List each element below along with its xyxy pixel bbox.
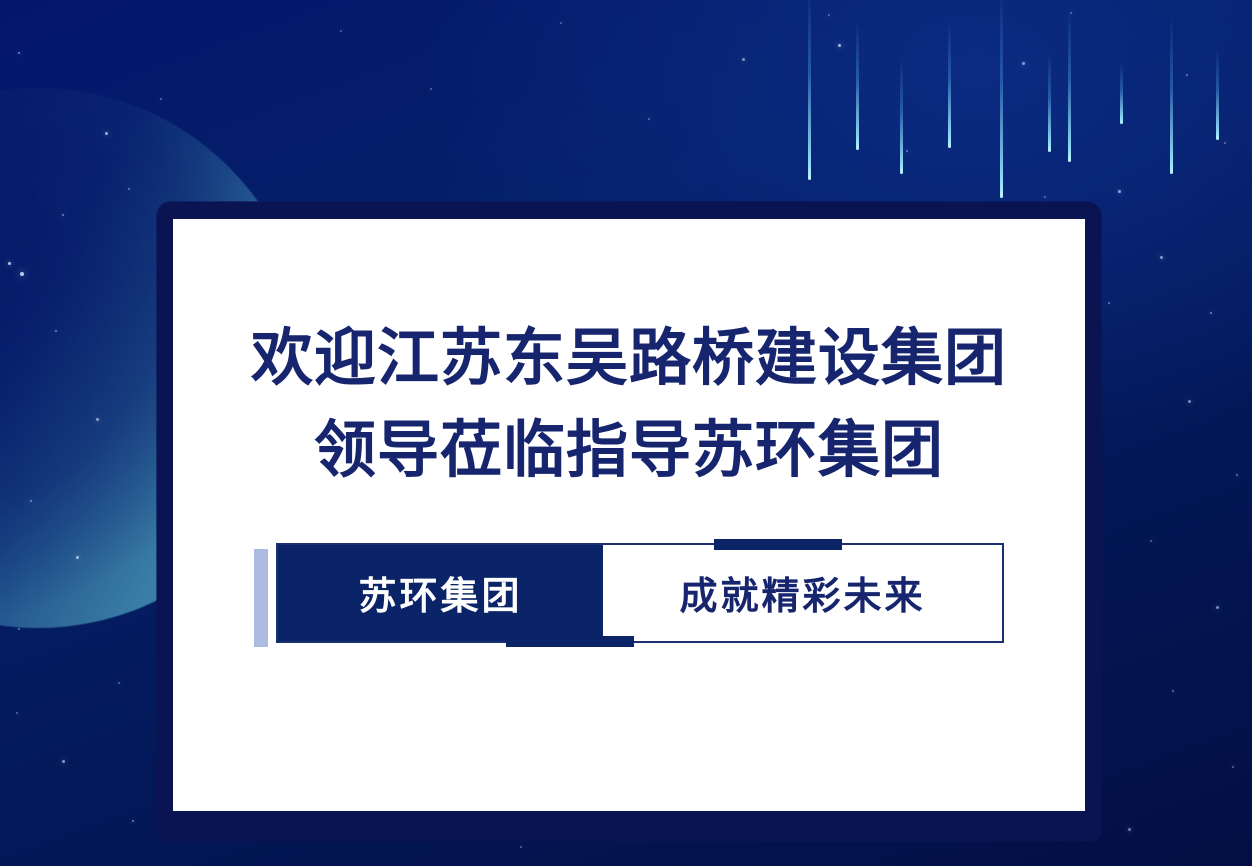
slogan-banner: 苏环集团 成就精彩未来 [254,543,1004,647]
meteor-streak [1068,10,1071,162]
meteor-streak [900,58,903,174]
headline-line-2: 领导莅临指导苏环集团 [251,405,1007,497]
tick-top-decoration [714,539,842,550]
meteor-streak [1000,0,1003,198]
tagline: 成就精彩未来 [603,545,1002,641]
meteor-streak [856,20,859,150]
meteor-streak [1170,18,1173,174]
page-title: 欢迎江苏东吴路桥建设集团 领导莅临指导苏环集团 [251,313,1007,497]
headline-line-1: 欢迎江苏东吴路桥建设集团 [251,313,1007,405]
content-card-frame: 欢迎江苏东吴路桥建设集团 领导莅临指导苏环集团 苏环集团 成就精彩未来 [157,202,1101,841]
tick-bottom-decoration [506,636,634,647]
poster-canvas: 欢迎江苏东吴路桥建设集团 领导莅临指导苏环集团 苏环集团 成就精彩未来 [0,0,1252,866]
meteor-streak [1120,62,1123,124]
meteor-streak [808,0,811,180]
content-card: 欢迎江苏东吴路桥建设集团 领导莅临指导苏环集团 苏环集团 成就精彩未来 [173,219,1085,811]
meteor-streak [1048,52,1051,152]
meteor-streak [948,22,951,148]
accent-bar-decoration [254,549,268,647]
slogan-box: 苏环集团 成就精彩未来 [276,543,1004,643]
brand-name: 苏环集团 [278,545,603,641]
meteor-streak [1216,48,1219,140]
